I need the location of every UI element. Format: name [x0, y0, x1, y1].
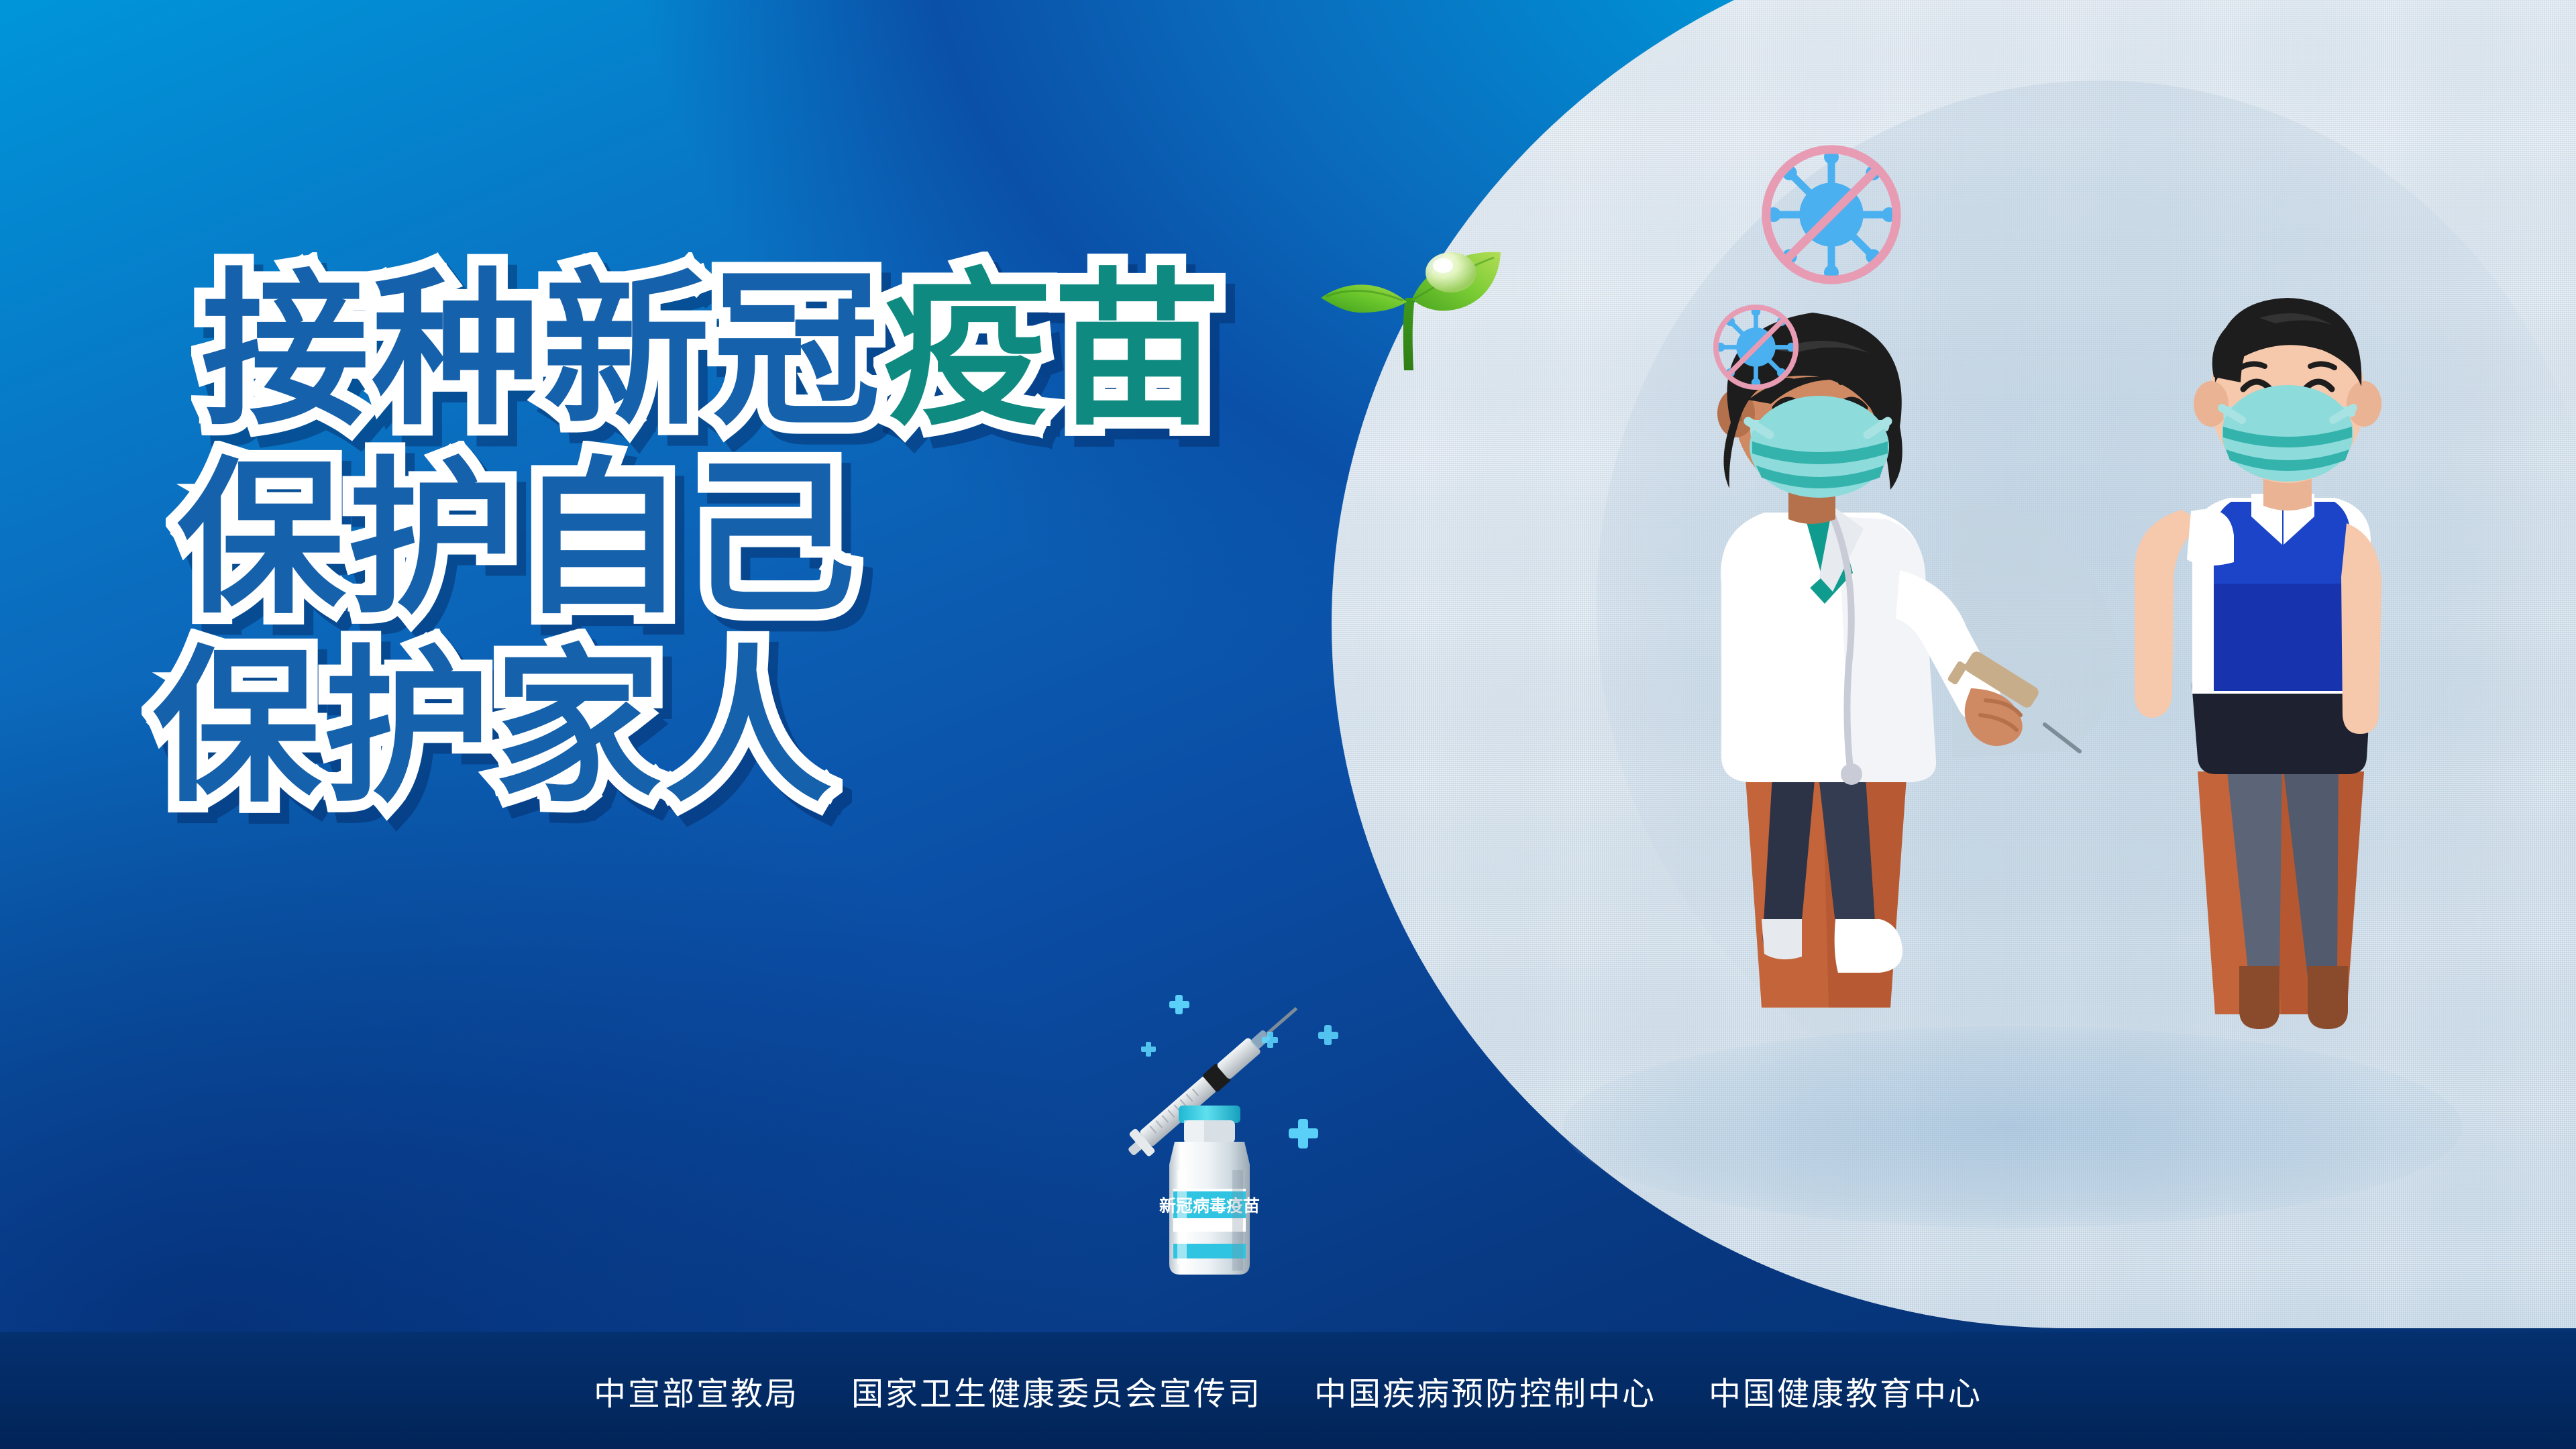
- vaccine-vial: 新冠病毒疫苗: [1159, 1106, 1260, 1275]
- sprout-icon: [1311, 223, 1513, 377]
- footer-organizations: 中宣部宣教局 国家卫生健康委员会宣传司 中国疾病预防控制中心 中国健康教育中心: [594, 1367, 1982, 1414]
- headline-line-3: 保护家人: [153, 645, 1543, 810]
- headline-line2-segment: 保护自己: [177, 441, 859, 637]
- no-virus-icon-large: [1758, 141, 1905, 288]
- headline-line3-segment: 保护家人: [153, 630, 835, 825]
- footer-org-3: 中国疾病预防控制中心: [1314, 1367, 1656, 1414]
- footer-org-1: 中宣部宣教局: [594, 1367, 799, 1414]
- headline-line-2: 保护自己: [177, 457, 1543, 621]
- vial-label-text: 新冠病毒疫苗: [1159, 1196, 1260, 1216]
- patient-figure: [2135, 298, 2381, 1029]
- vaccination-illustration: [1637, 288, 2536, 1194]
- no-virus-icon-small: [1711, 302, 1801, 392]
- vaccine-vial-and-syringe: 新冠病毒疫苗: [1090, 986, 1392, 1301]
- footer-org-4: 中国健康教育中心: [1709, 1367, 1982, 1414]
- footer-bar: 中宣部宣教局 国家卫生健康委员会宣传司 中国疾病预防控制中心 中国健康教育中心: [0, 1332, 2576, 1449]
- footer-org-2: 国家卫生健康委员会宣传司: [851, 1367, 1262, 1414]
- poster-root: 接种新冠疫苗 保护自己 保护家人: [0, 0, 2576, 1449]
- headline-line1-segment-teal: 疫苗: [883, 253, 1224, 448]
- headline-line1-segment-blue: 接种新冠: [201, 253, 883, 448]
